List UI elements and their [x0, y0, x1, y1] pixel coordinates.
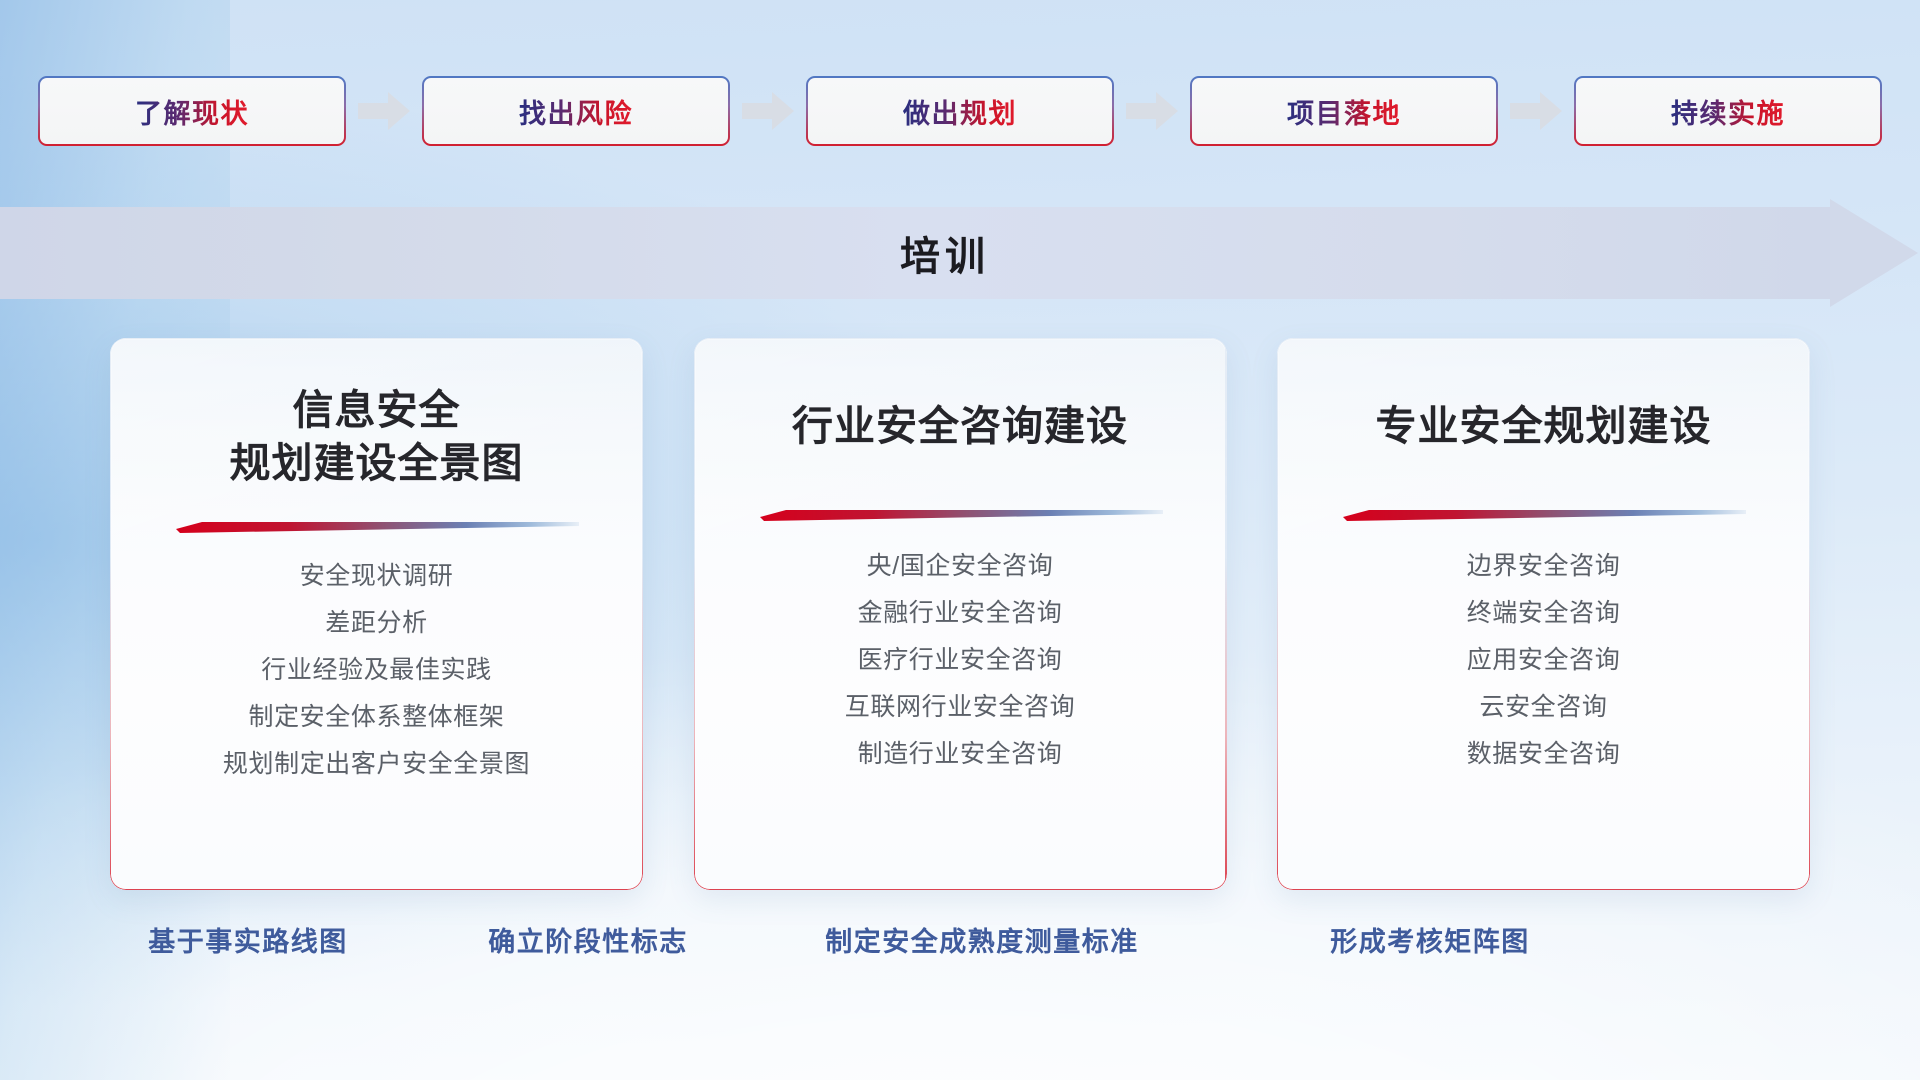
step-box-4[interactable]: 项目落地 [1190, 76, 1498, 146]
step-label: 持续实施 [1671, 92, 1785, 131]
slide-canvas: 了解现状 找出风险 做出规划 项目落地 [0, 0, 1920, 1080]
list-item: 应用安全咨询 [1277, 648, 1810, 673]
chevron-right-arrow-icon [1114, 76, 1190, 146]
chevron-right-arrow-icon [730, 76, 806, 146]
card-divider [758, 509, 1163, 522]
list-item: 终端安全咨询 [1277, 601, 1810, 626]
card-item-list: 央/国企安全咨询 金融行业安全咨询 医疗行业安全咨询 互联网行业安全咨询 制造行… [694, 554, 1227, 767]
chevron-right-arrow-icon [1498, 76, 1574, 146]
step-label: 找出风险 [519, 92, 633, 131]
process-step-row: 了解现状 找出风险 做出规划 项目落地 [0, 76, 1920, 146]
footnote-label: 形成考核矩阵图 [1330, 920, 1530, 959]
step-box-1[interactable]: 了解现状 [38, 76, 346, 146]
list-item: 制定安全体系整体框架 [110, 705, 643, 730]
training-banner-arrow: 培训 [0, 207, 1920, 299]
list-item: 央/国企安全咨询 [694, 554, 1227, 579]
list-item: 云安全咨询 [1277, 695, 1810, 720]
step-box-3[interactable]: 做出规划 [806, 76, 1114, 146]
card-title: 信息安全 规划建设全景图 [110, 384, 643, 491]
card-title: 专业安全规划建设 [1277, 400, 1810, 453]
footnote-label: 制定安全成熟度测量标准 [825, 920, 1139, 959]
list-item: 差距分析 [110, 611, 643, 636]
card-information-security-blueprint[interactable]: 信息安全 规划建设全景图 [110, 338, 643, 890]
card-item-list: 安全现状调研 差距分析 行业经验及最佳实践 制定安全体系整体框架 规划制定出客户… [110, 564, 643, 777]
step-box-2[interactable]: 找出风险 [422, 76, 730, 146]
card-industry-security-consulting[interactable]: 行业安全咨询建设 [694, 338, 1227, 890]
step-box-5[interactable]: 持续实施 [1574, 76, 1882, 146]
list-item: 金融行业安全咨询 [694, 601, 1227, 626]
banner-title: 培训 [0, 207, 1920, 299]
list-item: 数据安全咨询 [1277, 742, 1810, 767]
card-divider [174, 521, 579, 534]
card-divider [1341, 509, 1746, 522]
chevron-right-arrow-icon [346, 76, 422, 146]
footnote-row: 基于事实路线图 确立阶段性标志 制定安全成熟度测量标准 形成考核矩阵图 [0, 920, 1920, 970]
footnote-label: 确立阶段性标志 [488, 920, 688, 959]
card-item-list: 边界安全咨询 终端安全咨询 应用安全咨询 云安全咨询 数据安全咨询 [1277, 554, 1810, 767]
card-title: 行业安全咨询建设 [694, 400, 1227, 453]
list-item: 互联网行业安全咨询 [694, 695, 1227, 720]
list-item: 行业经验及最佳实践 [110, 658, 643, 683]
card-professional-security-planning[interactable]: 专业安全规划建设 [1277, 338, 1810, 890]
list-item: 医疗行业安全咨询 [694, 648, 1227, 673]
list-item: 安全现状调研 [110, 564, 643, 589]
list-item: 制造行业安全咨询 [694, 742, 1227, 767]
capability-card-row: 信息安全 规划建设全景图 [110, 338, 1810, 890]
list-item: 规划制定出客户安全全景图 [110, 752, 643, 777]
step-label: 项目落地 [1287, 92, 1401, 131]
list-item: 边界安全咨询 [1277, 554, 1810, 579]
step-label: 了解现状 [135, 92, 249, 131]
step-label: 做出规划 [903, 92, 1017, 131]
footnote-label: 基于事实路线图 [148, 920, 348, 959]
